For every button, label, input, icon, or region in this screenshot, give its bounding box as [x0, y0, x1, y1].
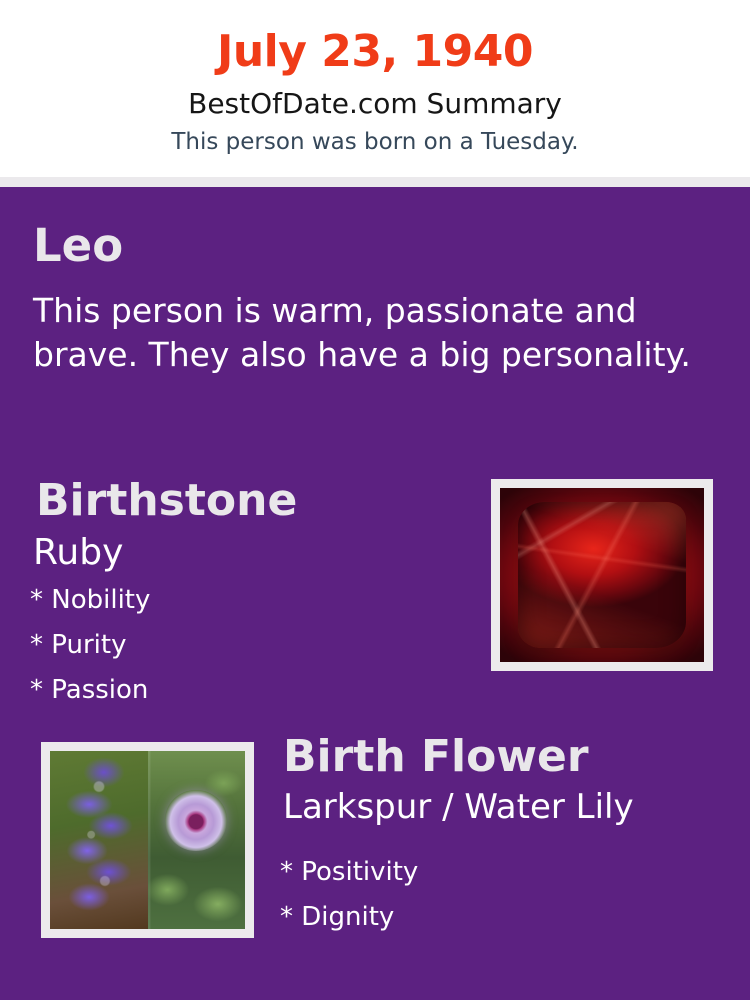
birthstone-image-frame: [491, 479, 713, 671]
zodiac-description: This person is warm, passionate and brav…: [33, 289, 693, 377]
larkspur-flower-image: [50, 751, 148, 929]
birth-flower-name: Larkspur / Water Lily: [283, 790, 634, 824]
header: July 23, 1940 BestOfDate.com Summary Thi…: [0, 0, 750, 177]
page-title-date: July 23, 1940: [0, 0, 750, 74]
zodiac-sign-title: Leo: [33, 223, 123, 268]
birthstone-trait-list: * Nobility * Purity * Passion: [30, 587, 150, 722]
ruby-crystal-image: [500, 488, 704, 662]
site-summary-label: BestOfDate.com Summary: [0, 74, 750, 118]
birthstone-name: Ruby: [33, 535, 123, 571]
list-item: * Dignity: [280, 904, 418, 930]
summary-card: July 23, 1940 BestOfDate.com Summary Thi…: [0, 0, 750, 1000]
birthstone-heading: Birthstone: [36, 479, 297, 523]
birth-flower-trait-list: * Positivity * Dignity: [280, 859, 418, 949]
details-panel: Leo This person is warm, passionate and …: [0, 187, 750, 1000]
birth-flower-image-frame: [41, 742, 254, 938]
water-lily-flower-image: [148, 751, 246, 929]
flower-image-pair: [50, 751, 245, 929]
header-divider: [0, 177, 750, 187]
list-item: * Passion: [30, 677, 150, 703]
list-item: * Purity: [30, 632, 150, 658]
list-item: * Positivity: [280, 859, 418, 885]
birth-day-note: This person was born on a Tuesday.: [0, 118, 750, 154]
birth-flower-heading: Birth Flower: [283, 735, 589, 779]
list-item: * Nobility: [30, 587, 150, 613]
